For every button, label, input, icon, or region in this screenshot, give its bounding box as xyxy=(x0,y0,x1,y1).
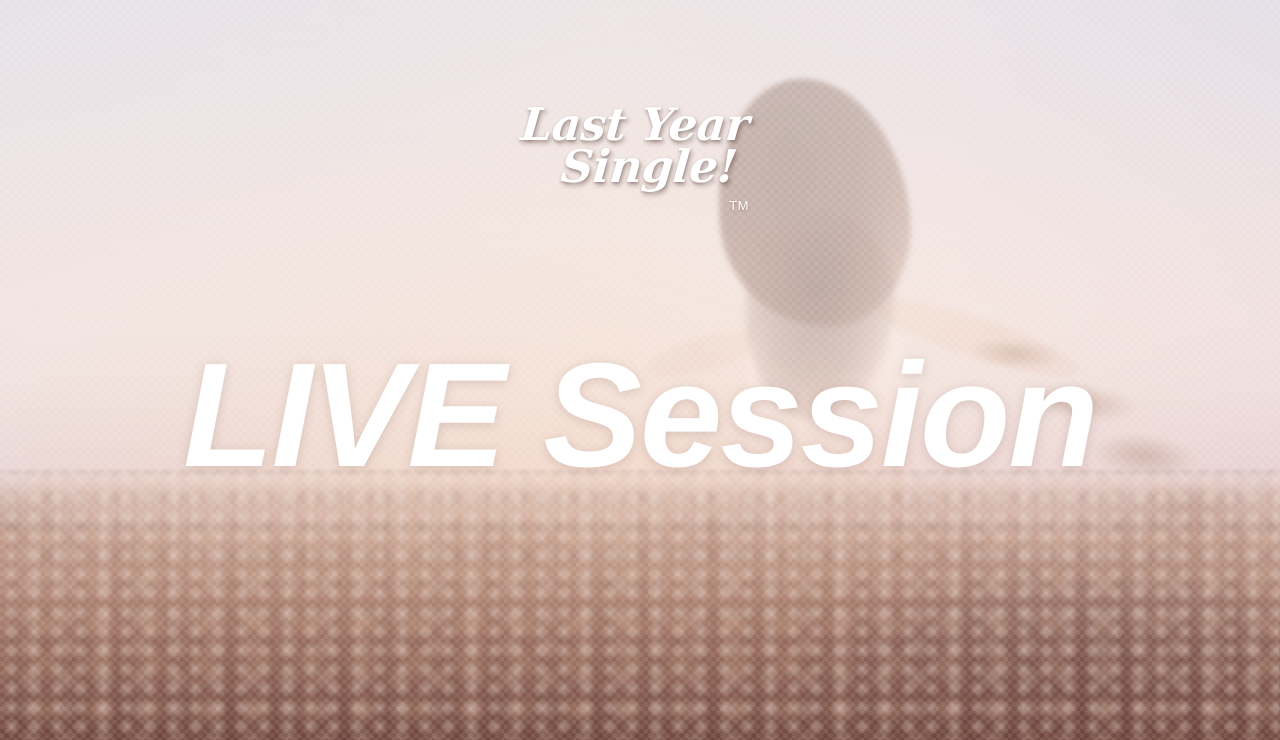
brand-logo-line-2: Single! xyxy=(531,146,767,188)
trademark-symbol: TM xyxy=(729,200,749,212)
live-session-banner: Last Year Single! TM LIVE Session xyxy=(0,0,1280,740)
brand-logo: Last Year Single! TM xyxy=(505,104,765,188)
page-title: LIVE Session xyxy=(0,342,1280,490)
